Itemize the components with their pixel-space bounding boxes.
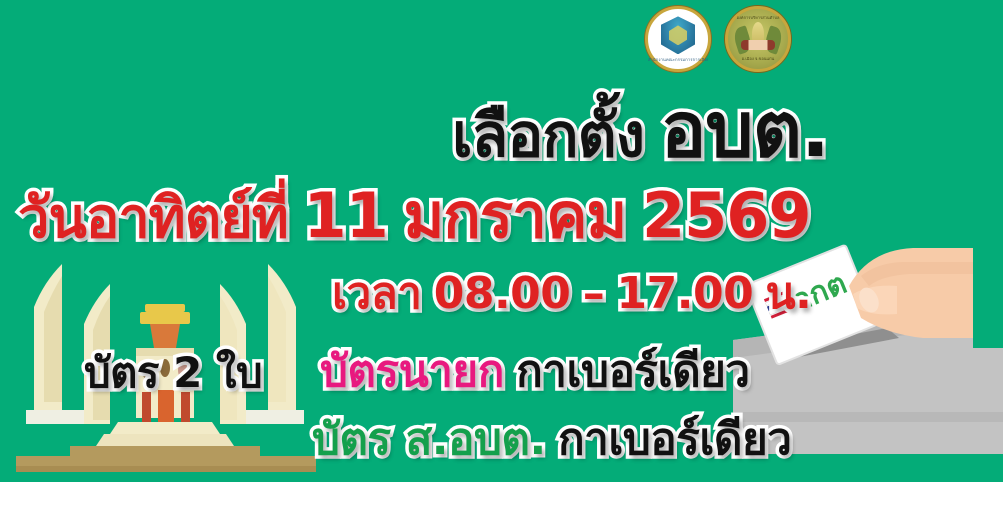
local-administration-seal: องค์การบริหารส่วนตำบล อ.เมือง จ.ขอนแก่น [725,6,791,72]
ballot-count-label: บัตร 2 ใบ [84,352,262,394]
council-ballot-line: บัตร ส.อบต.กาเบอร์เดียว [312,418,791,462]
date-day-number: 11 [303,179,387,252]
time-end: 17.00 [617,268,754,319]
mayor-ballot-line: บัตรนายกกาเบอร์เดียว [320,350,750,394]
date-month: มกราคม [403,179,626,252]
ect-seal-ring-text: สำนักงานคณะกรรมการการเลือกตั้ง [648,58,708,62]
date-year: 2569 [642,179,811,252]
local-seal-ring-text-top: องค์การบริหารส่วนตำบล [728,16,788,20]
ect-emblem-icon [661,16,695,54]
council-ballot-instruction: กาเบอร์เดียว [558,414,791,465]
voting-time-line: เวลา08.00–17.00น. [332,272,811,316]
time-start: 08.00 [434,268,571,319]
time-dash: – [583,268,605,319]
election-poster: กกต สำนักงานคณะกรรมการการเลือกตั้ง องค์ก… [0,0,1003,510]
council-ballot-label: บัตร ส.อบต. [312,414,546,465]
time-unit: น. [766,268,812,319]
handshake-icon [741,40,775,50]
seal-group: สำนักงานคณะกรรมการการเลือกตั้ง องค์การบร… [645,6,791,72]
poster-bottom-strip [0,482,1003,510]
local-seal-ring-text-bottom: อ.เมือง จ.ขอนแก่น [728,57,788,61]
headline-prefix: เลือกตั้ง [452,101,644,171]
mayor-ballot-label: บัตรนายก [320,346,504,397]
date-day-prefix: วันอาทิตย์ที่ [18,186,288,251]
election-date-line: วันอาทิตย์ที่11มกราคม2569 [18,185,811,247]
ect-seal: สำนักงานคณะกรรมการการเลือกตั้ง [645,6,711,72]
headline-main: อบต. [661,85,829,174]
mayor-ballot-instruction: กาเบอร์เดียว [516,346,749,397]
time-label: เวลา [332,268,421,319]
headline: เลือกตั้งอบต. [452,92,829,168]
